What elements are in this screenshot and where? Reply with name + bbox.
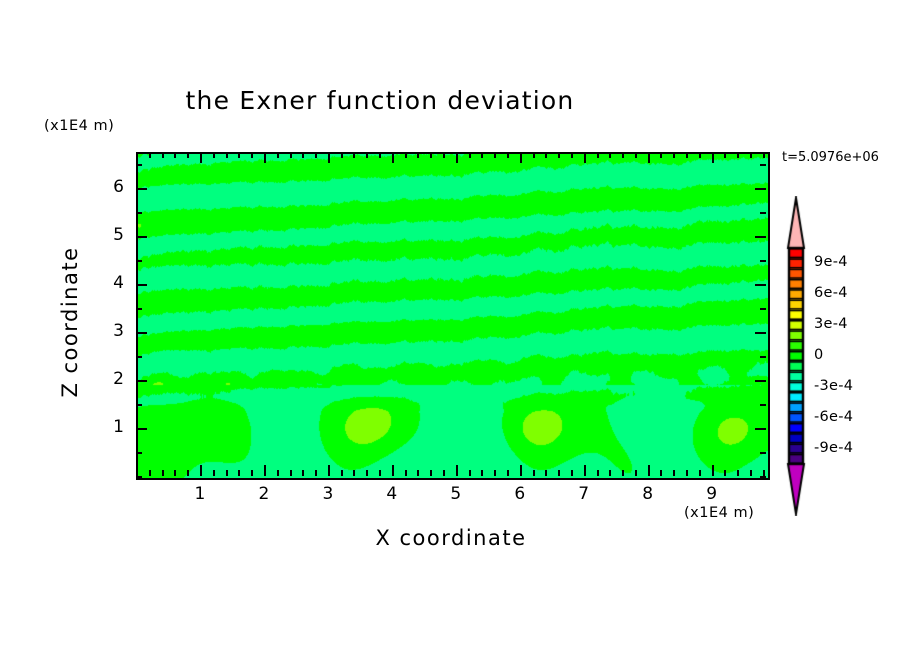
axis-tick	[699, 152, 701, 158]
axis-tick	[584, 465, 586, 476]
x-tick-label: 2	[249, 484, 279, 504]
axis-tick	[760, 404, 766, 406]
axis-tick	[760, 308, 766, 310]
axis-tick	[136, 332, 147, 334]
axis-tick	[251, 152, 253, 158]
axis-tick	[379, 152, 381, 158]
axis-tick	[213, 152, 215, 158]
axis-tick	[737, 152, 739, 158]
axis-tick	[353, 470, 355, 476]
axis-tick	[200, 152, 202, 163]
axis-tick	[226, 470, 228, 476]
axis-tick	[379, 470, 381, 476]
axis-tick	[200, 465, 202, 476]
axis-tick	[187, 152, 189, 158]
axis-tick	[481, 152, 483, 158]
axis-tick	[712, 152, 714, 163]
axis-tick	[136, 356, 142, 358]
axis-tick	[226, 152, 228, 158]
axis-tick	[353, 152, 355, 158]
axis-tick	[533, 152, 535, 158]
axis-tick	[302, 470, 304, 476]
axis-tick	[290, 152, 292, 158]
axis-tick	[328, 152, 330, 163]
x-tick-label: 4	[377, 484, 407, 504]
axis-tick	[545, 152, 547, 158]
axis-tick	[584, 152, 586, 163]
axis-tick	[755, 428, 766, 430]
axis-tick	[494, 470, 496, 476]
axis-tick	[341, 470, 343, 476]
axis-tick	[392, 465, 394, 476]
axis-tick	[597, 470, 599, 476]
axis-tick	[456, 152, 458, 163]
axis-tick	[392, 152, 394, 163]
axis-tick	[520, 152, 522, 163]
axis-tick	[174, 152, 176, 158]
axis-tick	[136, 212, 142, 214]
axis-tick	[290, 470, 292, 476]
axis-tick	[238, 152, 240, 158]
colorbar-tick-label: 6e-4	[814, 285, 848, 301]
y-tick-label: 1	[94, 417, 124, 437]
axis-tick	[417, 152, 419, 158]
axis-tick	[162, 152, 164, 158]
colorbar-tick-label: 9e-4	[814, 254, 848, 270]
axis-tick	[264, 152, 266, 163]
axis-tick	[187, 470, 189, 476]
axis-tick	[443, 152, 445, 158]
axis-tick	[558, 470, 560, 476]
colorbar-tick-label: -9e-4	[814, 440, 853, 456]
axis-tick	[635, 152, 637, 158]
axis-tick	[136, 236, 147, 238]
axis-tick	[760, 212, 766, 214]
axis-tick	[494, 152, 496, 158]
axis-tick	[136, 308, 142, 310]
axis-tick	[597, 152, 599, 158]
axis-tick	[315, 152, 317, 158]
colorbar	[776, 196, 816, 516]
axis-tick	[136, 152, 138, 158]
page-title: the Exner function deviation	[0, 86, 760, 115]
x-tick-label: 5	[441, 484, 471, 504]
x-axis-title: X coordinate	[136, 526, 766, 550]
axis-tick	[755, 236, 766, 238]
axis-tick	[750, 470, 752, 476]
axis-tick	[136, 428, 147, 430]
axis-tick	[755, 332, 766, 334]
axis-tick	[635, 470, 637, 476]
axis-tick	[660, 152, 662, 158]
axis-tick	[481, 470, 483, 476]
axis-tick	[699, 470, 701, 476]
axis-tick	[315, 470, 317, 476]
axis-tick	[507, 152, 509, 158]
axis-tick	[136, 380, 147, 382]
y-axis-unit-label: (x1E4 m)	[44, 118, 114, 134]
colorbar-tick-label: -6e-4	[814, 409, 853, 425]
axis-tick	[545, 470, 547, 476]
axis-tick	[686, 470, 688, 476]
axis-tick	[533, 470, 535, 476]
axis-tick	[328, 465, 330, 476]
axis-tick	[558, 152, 560, 158]
y-tick-label: 4	[94, 273, 124, 293]
axis-tick	[760, 164, 766, 166]
y-tick-label: 5	[94, 225, 124, 245]
axis-tick	[136, 164, 142, 166]
x-tick-label: 8	[633, 484, 663, 504]
colorbar-tick-label: -3e-4	[814, 378, 853, 394]
axis-tick	[609, 470, 611, 476]
axis-tick	[686, 152, 688, 158]
axis-tick	[673, 152, 675, 158]
axis-tick	[760, 356, 766, 358]
axis-tick	[755, 380, 766, 382]
axis-tick	[760, 452, 766, 454]
axis-tick	[673, 470, 675, 476]
axis-tick	[760, 260, 766, 262]
x-axis-unit-label: (x1E4 m)	[684, 505, 754, 521]
contour-field	[138, 154, 768, 478]
axis-tick	[750, 152, 752, 158]
contour-plot-area	[136, 152, 770, 480]
axis-tick	[430, 152, 432, 158]
axis-tick	[520, 465, 522, 476]
axis-tick	[571, 470, 573, 476]
axis-tick	[238, 470, 240, 476]
axis-tick	[755, 188, 766, 190]
axis-tick	[366, 470, 368, 476]
axis-tick	[724, 152, 726, 158]
axis-tick	[277, 152, 279, 158]
axis-tick	[648, 465, 650, 476]
axis-tick	[737, 470, 739, 476]
axis-tick	[405, 470, 407, 476]
axis-tick	[136, 452, 142, 454]
axis-tick	[443, 470, 445, 476]
axis-tick	[712, 465, 714, 476]
axis-tick	[405, 152, 407, 158]
y-tick-label: 3	[94, 321, 124, 341]
axis-tick	[507, 470, 509, 476]
axis-tick	[136, 404, 142, 406]
axis-tick	[430, 470, 432, 476]
colorbar-tick-label: 3e-4	[814, 316, 848, 332]
axis-tick	[149, 152, 151, 158]
colorbar-tick-label: 0	[814, 347, 824, 363]
axis-tick	[724, 470, 726, 476]
axis-tick	[251, 470, 253, 476]
axis-tick	[341, 152, 343, 158]
axis-tick	[417, 470, 419, 476]
axis-tick	[366, 152, 368, 158]
axis-tick	[136, 188, 147, 190]
x-tick-label: 7	[569, 484, 599, 504]
y-axis-title: Z coordinate	[58, 222, 82, 422]
colorbar-gradient	[776, 196, 816, 516]
x-tick-label: 3	[313, 484, 343, 504]
time-annotation: t=5.0976e+06	[782, 150, 879, 165]
axis-tick	[760, 476, 766, 478]
y-tick-label: 2	[94, 369, 124, 389]
axis-tick	[763, 152, 765, 158]
x-tick-label: 9	[697, 484, 727, 504]
axis-tick	[609, 152, 611, 158]
axis-tick	[469, 470, 471, 476]
axis-tick	[456, 465, 458, 476]
axis-tick	[162, 470, 164, 476]
axis-tick	[622, 152, 624, 158]
axis-tick	[149, 470, 151, 476]
axis-tick	[136, 476, 142, 478]
axis-tick	[755, 284, 766, 286]
x-tick-label: 1	[185, 484, 215, 504]
axis-tick	[660, 470, 662, 476]
axis-tick	[571, 152, 573, 158]
axis-tick	[622, 470, 624, 476]
axis-tick	[213, 470, 215, 476]
axis-tick	[277, 470, 279, 476]
axis-tick	[302, 152, 304, 158]
x-tick-label: 6	[505, 484, 535, 504]
axis-tick	[648, 152, 650, 163]
axis-tick	[174, 470, 176, 476]
y-tick-label: 6	[94, 177, 124, 197]
axis-tick	[136, 260, 142, 262]
axis-tick	[264, 465, 266, 476]
axis-tick	[136, 284, 147, 286]
axis-tick	[469, 152, 471, 158]
